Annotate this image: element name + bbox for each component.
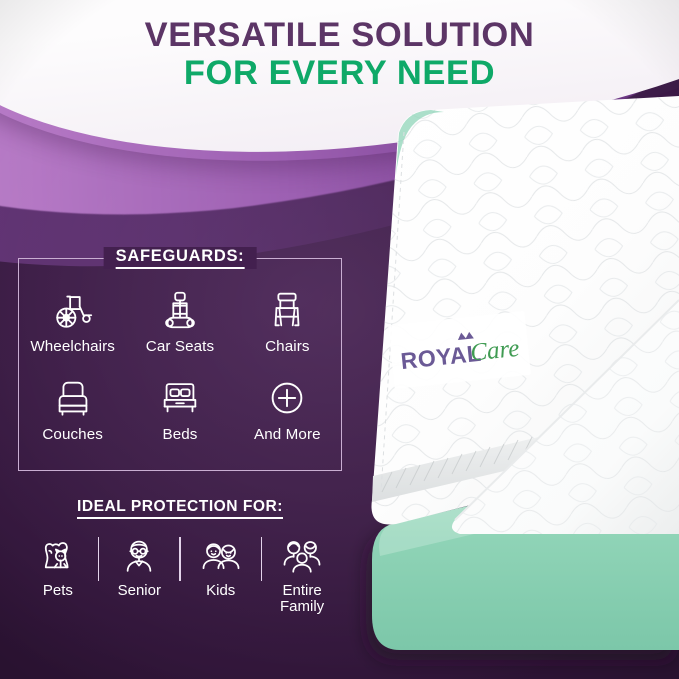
kids-icon — [200, 535, 242, 577]
safeguards-item-and-more: And More — [234, 369, 341, 457]
page-title: VERSATILE SOLUTION FOR EVERY NEED — [0, 18, 679, 92]
wheelchair-icon — [50, 287, 96, 333]
safeguards-item-couches: Couches — [19, 369, 126, 457]
safeguards-item-label: Wheelchairs — [30, 338, 115, 355]
ideal-item-pets: Pets — [18, 535, 98, 599]
ideal-protection-section: IDEAL PROTECTION FOR: Pets — [18, 498, 342, 615]
headline-line-2: FOR EVERY NEED — [0, 56, 679, 92]
family-icon — [281, 535, 323, 577]
safeguards-item-wheelchairs: Wheelchairs — [19, 281, 126, 369]
safeguards-item-label: And More — [254, 426, 321, 443]
ideal-protection-row: Pets Senior — [18, 535, 342, 615]
pets-icon — [37, 535, 79, 577]
safeguards-item-car-seats: Car Seats — [126, 281, 233, 369]
ideal-protection-heading: IDEAL PROTECTION FOR: — [18, 498, 342, 519]
safeguards-item-label: Beds — [162, 426, 197, 443]
ideal-item-senior: Senior — [99, 535, 179, 599]
ideal-item-kids: Kids — [181, 535, 261, 599]
armchair-icon — [50, 375, 96, 421]
ideal-item-entire-family: Entire Family — [262, 535, 342, 615]
ideal-item-label: Pets — [43, 583, 73, 599]
safeguards-item-label: Chairs — [265, 338, 310, 355]
headline-line-1: VERSATILE SOLUTION — [0, 18, 679, 54]
car-seat-icon — [157, 287, 203, 333]
folding-chair-icon — [264, 287, 310, 333]
safeguards-item-label: Couches — [42, 426, 103, 443]
ideal-item-label: Kids — [206, 583, 235, 599]
safeguards-panel: SAFEGUARDS: Wheelchairs — [18, 258, 342, 471]
safeguards-item-chairs: Chairs — [234, 281, 341, 369]
bed-icon — [157, 375, 203, 421]
safeguards-heading-text: SAFEGUARDS: — [116, 247, 245, 269]
safeguards-item-label: Car Seats — [146, 338, 214, 355]
ideal-item-label: Senior — [118, 583, 161, 599]
safeguards-grid: Wheelchairs Car Seats — [19, 281, 341, 457]
ideal-item-label: Entire Family — [264, 583, 340, 615]
plus-circle-icon — [264, 375, 310, 421]
safeguards-item-beds: Beds — [126, 369, 233, 457]
safeguards-heading: SAFEGUARDS: — [104, 247, 257, 269]
ideal-protection-heading-text: IDEAL PROTECTION FOR: — [77, 498, 283, 519]
senior-icon — [118, 535, 160, 577]
